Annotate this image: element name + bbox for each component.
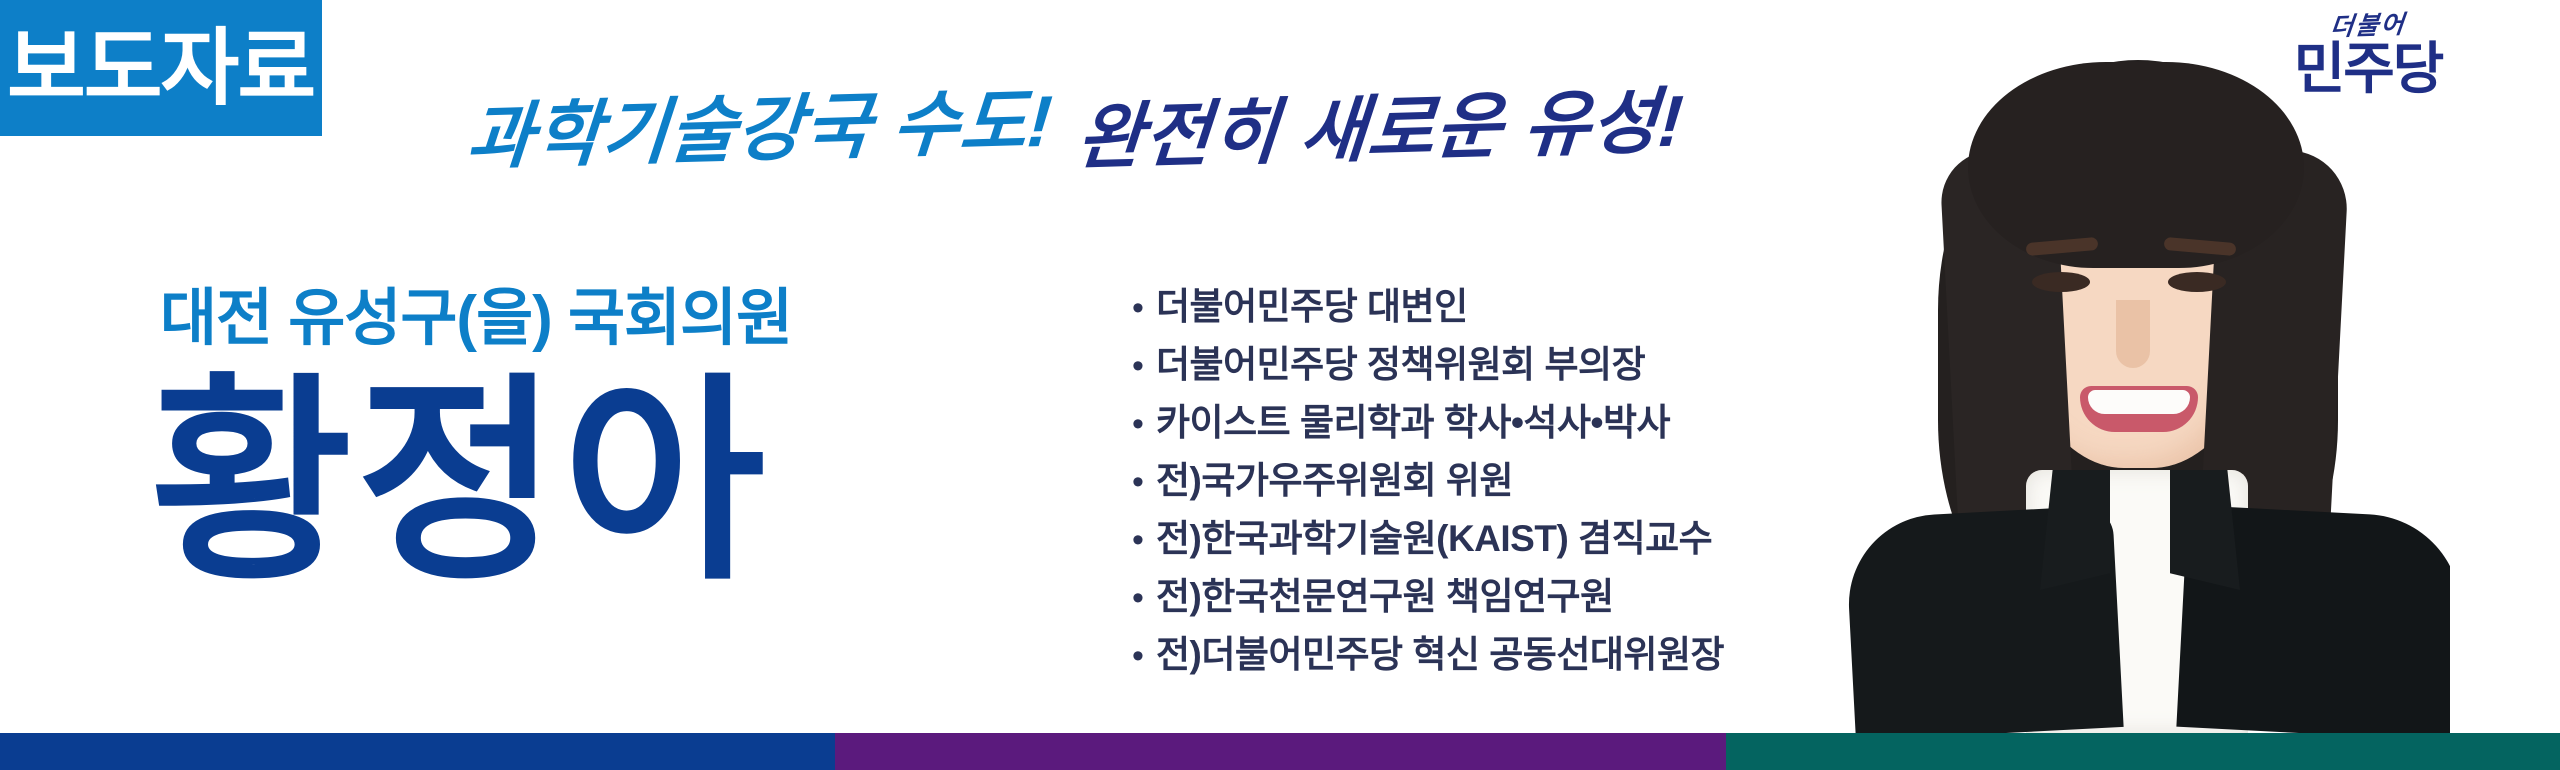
candidate-name: 황정아 bbox=[150, 372, 769, 592]
party-logo: 더불어 민주당 bbox=[2268, 14, 2468, 97]
credential-text: 전)한국과학기술원(KAIST) 겸직교수 bbox=[1156, 520, 1712, 557]
photo-eye-right bbox=[2168, 272, 2226, 292]
credential-text: 전)국가우주위원회 위원 bbox=[1156, 462, 1513, 499]
press-release-badge: 보도자료 bbox=[0, 0, 322, 136]
list-item: • 전)한국과학기술원(KAIST) 겸직교수 bbox=[1132, 520, 1832, 578]
photo-mouth bbox=[2080, 386, 2198, 432]
press-release-banner: 보도자료 과학기술강국 수도! 완전히 새로운 유성! 대전 유성구(을) 국회… bbox=[0, 0, 2560, 770]
credential-text: 더불어민주당 대변인 bbox=[1156, 288, 1468, 325]
bottom-color-bar bbox=[0, 733, 2560, 770]
bullet-icon: • bbox=[1132, 349, 1156, 383]
press-release-badge-label: 보도자료 bbox=[7, 26, 314, 110]
tagline-part-science-capital: 과학기술강국 수도! bbox=[464, 86, 1055, 174]
credential-text: 더불어민주당 정책위원회 부의장 bbox=[1156, 346, 1645, 383]
photo-nose bbox=[2116, 300, 2150, 368]
bullet-icon: • bbox=[1132, 523, 1156, 557]
party-logo-name-text: 민주당 bbox=[2268, 41, 2468, 97]
candidate-office-line: 대전 유성구(을) 국회의원 bbox=[160, 288, 792, 350]
bar-segment-purple bbox=[835, 733, 1726, 770]
bullet-icon: • bbox=[1132, 407, 1156, 441]
list-item: • 전)더불어민주당 혁신 공동선대위원장 bbox=[1132, 636, 1832, 694]
bullet-icon: • bbox=[1132, 581, 1156, 615]
photo-teeth bbox=[2088, 390, 2190, 414]
tagline-part-new-yuseong: 완전히 새로운 유성! bbox=[1074, 86, 1686, 175]
bullet-icon: • bbox=[1132, 639, 1156, 673]
list-item: • 더불어민주당 대변인 bbox=[1132, 288, 1832, 346]
credential-text: 전)더불어민주당 혁신 공동선대위원장 bbox=[1156, 636, 1724, 673]
bar-segment-navy bbox=[0, 733, 835, 770]
credentials-list: • 더불어민주당 대변인 • 더불어민주당 정책위원회 부의장 • 카이스트 물… bbox=[1132, 288, 1832, 694]
candidate-photo bbox=[1790, 0, 2450, 733]
photo-hair-front bbox=[1968, 62, 2304, 268]
list-item: • 전)국가우주위원회 위원 bbox=[1132, 462, 1832, 520]
list-item: • 더불어민주당 정책위원회 부의장 bbox=[1132, 346, 1832, 404]
list-item: • 전)한국천문연구원 책임연구원 bbox=[1132, 578, 1832, 636]
bullet-icon: • bbox=[1132, 291, 1156, 325]
list-item: • 카이스트 물리학과 학사•석사•박사 bbox=[1132, 404, 1832, 462]
bar-segment-teal bbox=[1726, 733, 2560, 770]
campaign-tagline: 과학기술강국 수도! 완전히 새로운 유성! bbox=[468, 56, 1688, 166]
bullet-icon: • bbox=[1132, 465, 1156, 499]
credential-text: 전)한국천문연구원 책임연구원 bbox=[1156, 578, 1614, 615]
credential-text: 카이스트 물리학과 학사•석사•박사 bbox=[1156, 404, 1670, 441]
photo-eye-left bbox=[2032, 272, 2090, 292]
